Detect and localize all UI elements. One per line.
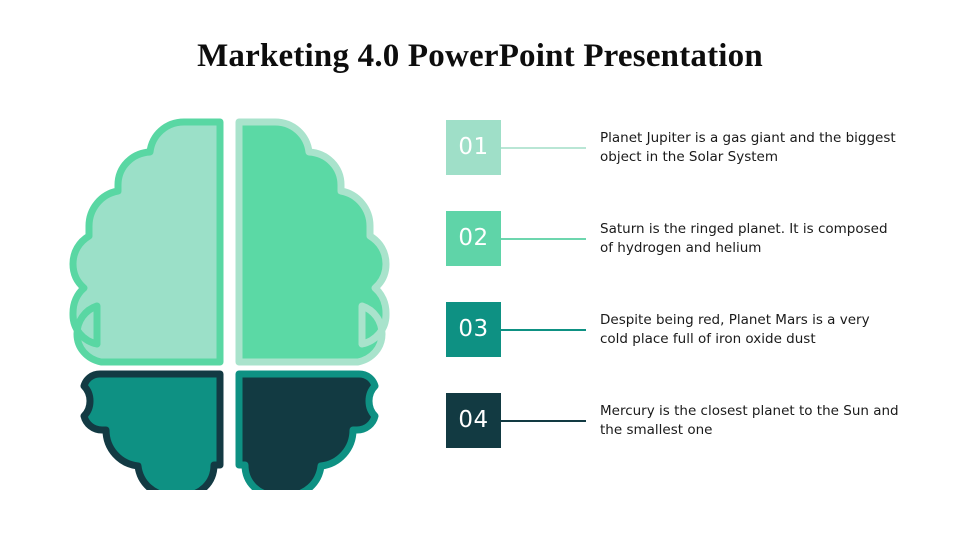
- step-connector-02: [501, 238, 586, 240]
- list-item[interactable]: 03 Despite being red, Planet Mars is a v…: [446, 302, 916, 357]
- brain-diagram-shapes: [62, 108, 397, 490]
- list-item[interactable]: 01 Planet Jupiter is a gas giant and the…: [446, 120, 916, 175]
- step-description-01: Planet Jupiter is a gas giant and the bi…: [600, 128, 900, 166]
- step-description-04: Mercury is the closest planet to the Sun…: [600, 401, 900, 439]
- step-badge-02[interactable]: 02: [446, 211, 501, 266]
- step-connector-04: [501, 420, 586, 422]
- step-description-02: Saturn is the ringed planet. It is compo…: [600, 219, 900, 257]
- list-item[interactable]: 04 Mercury is the closest planet to the …: [446, 393, 916, 448]
- list-item[interactable]: 02 Saturn is the ringed planet. It is co…: [446, 211, 916, 266]
- brain-quadrants-svg: [62, 108, 397, 490]
- presentation-slide: Marketing 4.0 PowerPoint Presentation 01…: [0, 0, 960, 540]
- step-connector-01: [501, 147, 586, 149]
- step-badge-03[interactable]: 03: [446, 302, 501, 357]
- steps-list: 01 Planet Jupiter is a gas giant and the…: [446, 120, 916, 448]
- step-badge-01[interactable]: 01: [446, 120, 501, 175]
- step-description-03: Despite being red, Planet Mars is a very…: [600, 310, 900, 348]
- page-title: Marketing 4.0 PowerPoint Presentation: [0, 38, 960, 75]
- step-badge-04[interactable]: 04: [446, 393, 501, 448]
- step-connector-03: [501, 329, 586, 331]
